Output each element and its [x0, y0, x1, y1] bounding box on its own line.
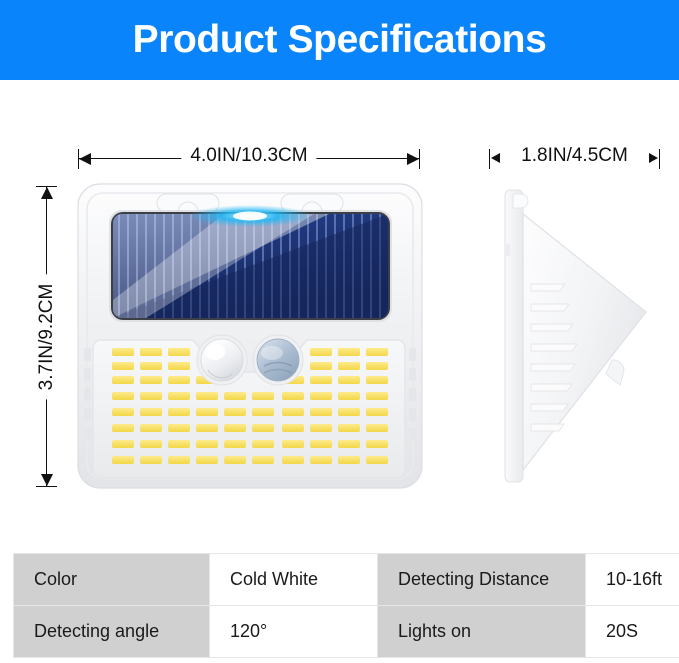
- spec-label-lights-on: Lights on: [378, 606, 586, 658]
- arrow-up-icon: [41, 187, 53, 199]
- spec-value-color: Cold White: [210, 554, 378, 606]
- spec-label-color: Color: [14, 554, 210, 606]
- spec-value-lights-on: 20S: [586, 606, 679, 658]
- arrow-right-icon: [649, 153, 658, 163]
- table-row: Color Cold White Detecting Distance 10-1…: [14, 554, 679, 606]
- arrow-left-icon: [491, 153, 500, 163]
- arrow-right-icon: [407, 153, 419, 165]
- page-header-banner: Product Specifications: [0, 0, 679, 80]
- dimension-label-width: 4.0IN/10.3CM: [181, 145, 316, 167]
- spec-label-detecting-distance: Detecting Distance: [378, 554, 586, 606]
- dimension-depth-side: 1.8IN/4.5CM: [489, 158, 660, 160]
- product-front-view: [74, 180, 426, 492]
- dimension-cap-right: [659, 149, 660, 169]
- dimension-label-height: 3.7IN/9.2CM: [36, 274, 58, 399]
- dimension-height-front: 3.7IN/9.2CM: [46, 186, 48, 487]
- dimension-label-depth: 1.8IN/4.5CM: [519, 145, 630, 167]
- product-diagram-stage: 4.0IN/10.3CM 1.8IN/4.5CM 3.7IN/9.2CM: [0, 80, 679, 545]
- solar-panel: [109, 205, 392, 322]
- spec-value-detecting-distance: 10-16ft: [586, 554, 679, 606]
- specification-table: Color Cold White Detecting Distance 10-1…: [13, 553, 679, 658]
- spec-value-detecting-angle: 120°: [210, 606, 378, 658]
- arrow-down-icon: [41, 474, 53, 486]
- arrow-left-icon: [79, 153, 91, 165]
- product-side-view: [486, 180, 662, 492]
- page-title: Product Specifications: [133, 18, 547, 62]
- table-row: Detecting angle 120° Lights on 20S: [14, 606, 679, 658]
- dimension-width-front: 4.0IN/10.3CM: [78, 158, 420, 160]
- spec-label-detecting-angle: Detecting angle: [14, 606, 210, 658]
